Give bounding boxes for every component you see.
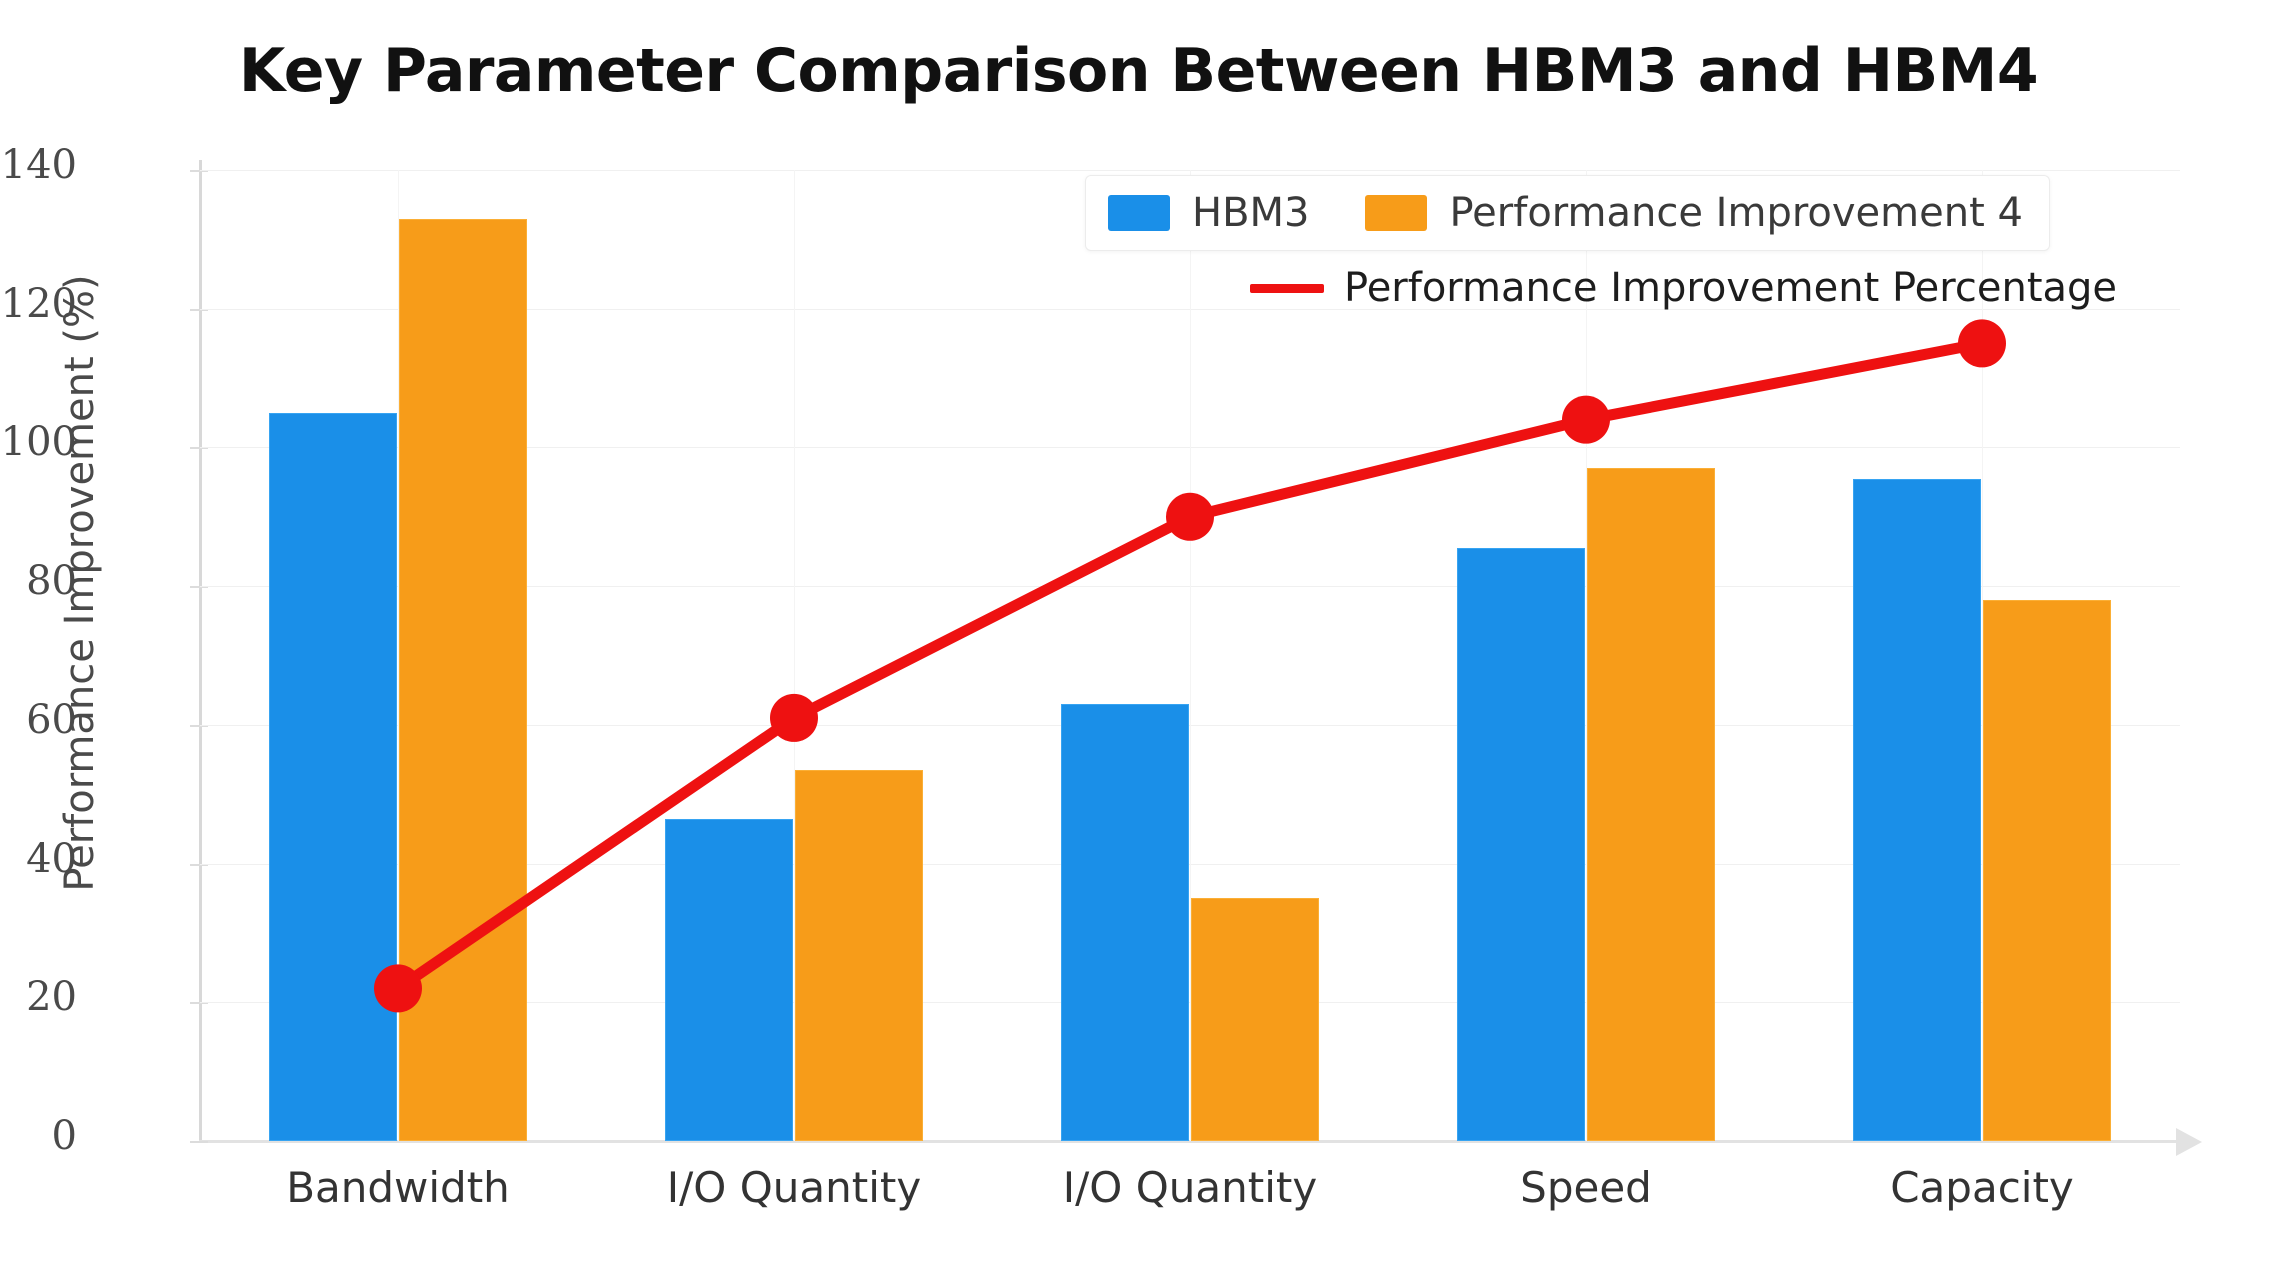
line-marker[interactable]: [1562, 396, 1610, 444]
line-marker[interactable]: [1166, 493, 1214, 541]
y-tick-mark: [190, 1141, 208, 1143]
legend-item-performance-improvement-4[interactable]: Performance Improvement 4: [1365, 190, 2022, 236]
line-marker[interactable]: [770, 694, 818, 742]
y-tick-label: 40: [26, 836, 77, 882]
x-tick-label: Bandwidth: [286, 1163, 510, 1212]
legend-label-performance-improvement-4: Performance Improvement 4: [1449, 190, 2022, 236]
x-tick-label: Capacity: [1890, 1163, 2074, 1212]
x-tick-label: I/O Quantity: [667, 1163, 921, 1212]
legend-item-hbm3[interactable]: HBM3: [1108, 190, 1309, 236]
chart-title: Key Parameter Comparison Between HBM3 an…: [0, 36, 2277, 106]
y-tick-label: 100: [1, 419, 77, 465]
plot-area: [200, 170, 2180, 1141]
legend-label-hbm3: HBM3: [1192, 190, 1309, 236]
legend-swatch-performance-improvement-4: [1365, 195, 1427, 231]
y-tick-label: 120: [1, 281, 77, 327]
legend-swatch-hbm3: [1108, 195, 1170, 231]
x-tick-label: I/O Quantity: [1063, 1163, 1317, 1212]
line-path: [398, 343, 1982, 988]
y-tick-label: 80: [26, 558, 77, 604]
y-tick-label: 60: [26, 697, 77, 743]
line-series-layer: [200, 170, 2180, 1141]
legend-item-performance-improvement-percentage[interactable]: Performance Improvement Percentage: [1250, 265, 2117, 311]
y-tick-label: 20: [26, 974, 77, 1020]
line-marker[interactable]: [1958, 319, 2006, 367]
legend-swatch-performance-improvement-percentage: [1250, 284, 1324, 293]
y-tick-label: 0: [52, 1113, 77, 1159]
y-tick-label: 140: [1, 142, 77, 188]
legend-label-performance-improvement-percentage: Performance Improvement Percentage: [1344, 265, 2117, 311]
line-marker[interactable]: [374, 964, 422, 1012]
chart-container: Key Parameter Comparison Between HBM3 an…: [0, 0, 2277, 1280]
x-tick-label: Speed: [1520, 1163, 1652, 1212]
legend-bars[interactable]: HBM3 Performance Improvement 4: [1085, 175, 2050, 251]
